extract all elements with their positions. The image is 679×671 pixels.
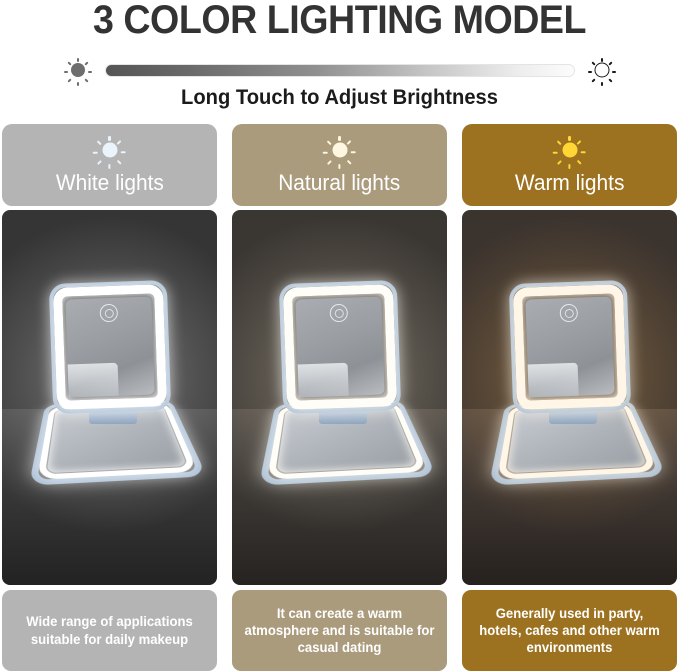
sun-icon bbox=[320, 131, 360, 169]
mode-columns: White lights bbox=[0, 124, 679, 671]
mirror-lid bbox=[508, 279, 630, 413]
mode-column-natural: Natural lights bbox=[232, 124, 447, 671]
page-title: 3 COLOR LIGHTING MODEL bbox=[20, 0, 658, 43]
mode-header-warm[interactable]: Warm lights bbox=[462, 124, 677, 206]
product-photo-natural bbox=[232, 210, 447, 585]
mode-label-warm: Warm lights bbox=[515, 170, 625, 196]
caption-text: Generally used in party, hotels, cafes a… bbox=[473, 605, 666, 657]
mode-caption-natural: It can create a warm atmosphere and is s… bbox=[232, 590, 447, 671]
touch-sensor-icon bbox=[329, 303, 348, 322]
sun-dim-icon bbox=[61, 53, 95, 87]
touch-sensor-icon bbox=[99, 303, 118, 322]
led-compact-mirror bbox=[498, 272, 648, 522]
page-subtitle: Long Touch to Adjust Brightness bbox=[14, 86, 666, 110]
sun-icon bbox=[550, 131, 590, 169]
mode-header-natural[interactable]: Natural lights bbox=[232, 124, 447, 206]
product-photo-white bbox=[2, 210, 217, 585]
mode-column-white: White lights bbox=[2, 124, 217, 671]
product-photo-warm bbox=[462, 210, 677, 585]
sun-bright-icon bbox=[585, 53, 619, 87]
mode-caption-warm: Generally used in party, hotels, cafes a… bbox=[462, 590, 677, 671]
sun-icon bbox=[90, 131, 130, 169]
touch-sensor-icon bbox=[559, 303, 578, 322]
mode-column-warm: Warm lights bbox=[462, 124, 677, 671]
mirror-lid bbox=[278, 279, 400, 413]
mode-label-natural: Natural lights bbox=[279, 170, 401, 196]
mode-label-white: White lights bbox=[55, 170, 163, 196]
led-compact-mirror bbox=[38, 272, 188, 522]
mode-caption-white: Wide range of applications suitable for … bbox=[2, 590, 217, 671]
mode-header-white[interactable]: White lights bbox=[2, 124, 217, 206]
caption-text: Wide range of applications suitable for … bbox=[13, 613, 206, 648]
led-compact-mirror bbox=[268, 272, 418, 522]
mirror-lid bbox=[48, 279, 170, 413]
brightness-slider-row bbox=[0, 54, 679, 86]
brightness-slider-track[interactable] bbox=[105, 64, 575, 77]
caption-text: It can create a warm atmosphere and is s… bbox=[243, 605, 436, 657]
product-infographic: 3 COLOR LIGHTING MODEL Long Touch to bbox=[0, 0, 679, 671]
